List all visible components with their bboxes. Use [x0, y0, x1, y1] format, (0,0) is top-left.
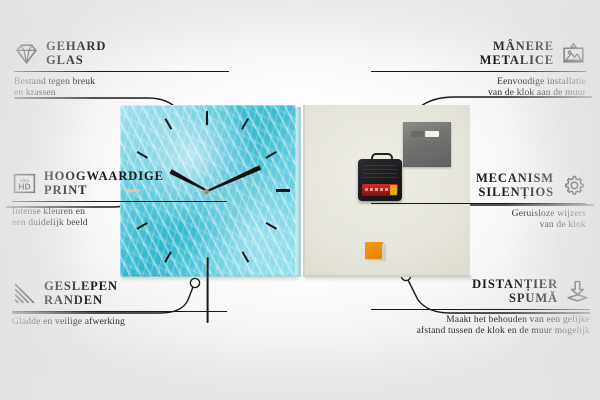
feature-title-line1: MÂNERE	[493, 39, 554, 53]
feature-header: GESLEPEN RANDEN	[12, 280, 227, 307]
feature-mecanism-silentios: MECANISM SILENȚIOS Geruisloze wijzers va…	[371, 172, 586, 231]
mechanism-hanger-hook	[371, 153, 393, 163]
feature-header: MECANISM SILENȚIOS	[371, 172, 586, 199]
clock-tick	[206, 111, 208, 125]
feature-title-line1: MECANISM	[476, 171, 554, 185]
feature-divider	[371, 71, 586, 72]
feature-title-line1: DISTANȚIER	[472, 277, 558, 291]
feature-header: ultra HD HOOGWAARDIGE PRINT	[12, 170, 227, 197]
feature-title: GESLEPEN RANDEN	[44, 280, 118, 307]
feature-subtitle-line2: een duidelijk beeld	[12, 217, 88, 228]
feature-title-line2: PRINT	[44, 183, 87, 197]
feature-subtitle: Gladde en veilige afwerking	[12, 316, 227, 328]
feature-subtitle-line1: Maakt het behouden van een gelijke	[446, 314, 590, 325]
feature-title-line2: GLAS	[46, 53, 84, 67]
feature-title: MÂNERE METALICE	[480, 40, 554, 67]
clock-glass-edge	[296, 107, 301, 277]
feature-subtitle-line1: Bestand tegen breuk	[14, 76, 95, 87]
feature-divider	[12, 201, 227, 202]
foam-spacer-side	[382, 244, 386, 261]
feature-title-line1: HOOGWAARDIGE	[44, 169, 164, 183]
gear-icon	[561, 173, 586, 198]
feature-divider	[14, 71, 229, 72]
diamond-icon	[14, 41, 39, 66]
bevelled-edges-icon	[12, 281, 37, 306]
feature-subtitle: Geruisloze wijzers van de klok	[371, 208, 586, 231]
svg-text:HD: HD	[18, 182, 30, 192]
metal-hanger-plate	[403, 122, 451, 167]
feature-title-line2: SILENȚIOS	[479, 185, 555, 199]
feature-gehard-glas: GEHARD GLAS Bestand tegen breuk en krass…	[14, 40, 229, 99]
feature-geslepen-randen: GESLEPEN RANDEN Gladde en veilige afwerk…	[12, 280, 227, 327]
feature-subtitle-line2: van de klok aan de muur	[488, 87, 586, 98]
feature-manere-metalice: MÂNERE METALICE Eenvoudige installatie v…	[371, 40, 586, 99]
feature-divider	[371, 203, 586, 204]
feature-subtitle-line1: Gladde en veilige afwerking	[12, 316, 125, 327]
product-infographic: GEHARD GLAS Bestand tegen breuk en krass…	[0, 0, 600, 400]
feature-subtitle-line2: afstand tussen de klok en de muur mogeli…	[417, 325, 590, 336]
feature-subtitle: Maakt het behouden van een gelijke afsta…	[371, 314, 590, 337]
feature-subtitle-line1: Intense kleuren en	[12, 206, 85, 217]
feature-title: MECANISM SILENȚIOS	[476, 172, 554, 199]
ultra-hd-icon: ultra HD	[12, 171, 37, 196]
feature-title-line2: SPUMĂ	[509, 291, 558, 305]
feature-title: GEHARD GLAS	[46, 40, 106, 67]
feature-header: MÂNERE METALICE	[371, 40, 586, 67]
feature-hoogwaardige-print: ultra HD HOOGWAARDIGE PRINT Intense kleu…	[12, 170, 227, 229]
feature-subtitle: Eenvoudige installatie van de klok aan d…	[371, 76, 586, 99]
foam-spacer-icon	[565, 279, 590, 304]
feature-subtitle-line1: Eenvoudige installatie	[497, 76, 586, 87]
feature-title: DISTANȚIER SPUMĂ	[472, 278, 558, 305]
orange-foam-spacer	[365, 242, 383, 259]
back-panel-edge	[303, 105, 305, 277]
clock-tick	[276, 189, 290, 192]
hanger-slot	[411, 131, 439, 137]
feature-title-line1: GESLEPEN	[44, 279, 118, 293]
feature-subtitle-line2: en krassen	[14, 87, 56, 98]
feature-subtitle-line2: van de klok	[540, 219, 586, 230]
feature-title-line1: GEHARD	[46, 39, 106, 53]
feature-title: HOOGWAARDIGE PRINT	[44, 170, 164, 197]
feature-header: GEHARD GLAS	[14, 40, 229, 67]
feature-distantier-spuma: DISTANȚIER SPUMĂ Maakt het behouden van …	[371, 278, 590, 337]
feature-title-line2: RANDEN	[44, 293, 103, 307]
feature-divider	[12, 311, 227, 312]
framed-picture-icon	[561, 41, 586, 66]
feature-subtitle: Intense kleuren en een duidelijk beeld	[12, 206, 227, 229]
feature-subtitle: Bestand tegen breuk en krassen	[14, 76, 229, 99]
feature-divider	[371, 309, 590, 310]
feature-title-line2: METALICE	[480, 53, 554, 67]
feature-header: DISTANȚIER SPUMĂ	[371, 278, 590, 305]
feature-subtitle-line1: Geruisloze wijzers	[512, 208, 586, 219]
